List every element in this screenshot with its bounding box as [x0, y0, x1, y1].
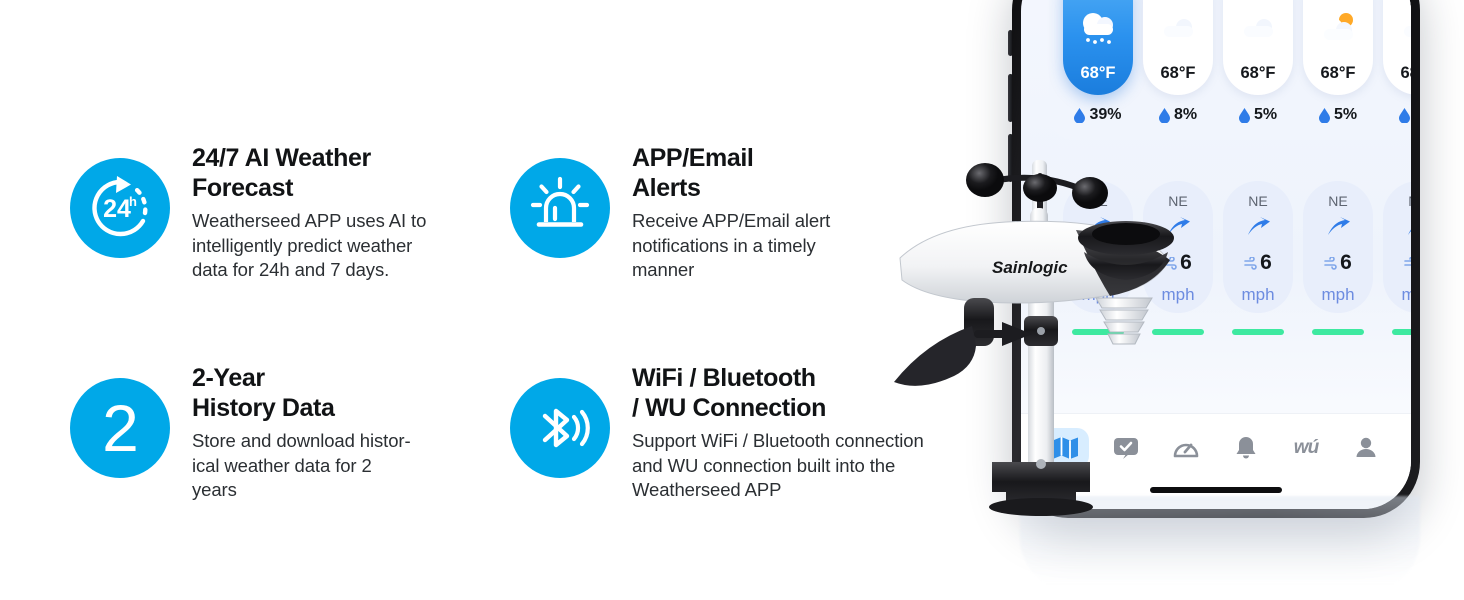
radiation-shield [1096, 298, 1152, 344]
hourly-column[interactable]: 7 68°F 5% [1303, 0, 1373, 124]
siren-alert-icon [510, 158, 610, 258]
wind-direction-arrow-icon [1405, 216, 1411, 238]
feature-description: Receive APP/Email alert notifications in… [632, 209, 830, 283]
hourly-temperature: 68°F [1320, 64, 1355, 95]
cloud-rain-icon [1075, 0, 1121, 64]
hourly-column[interactable]: Now 68°F 39% [1063, 0, 1133, 124]
wind-direction-arrow-icon [1325, 216, 1351, 243]
wind-card[interactable]: NE 6 mph [1303, 181, 1373, 313]
feature-alerts: APP/Email Alerts Receive APP/Email alert… [510, 140, 830, 283]
hourly-card[interactable]: 5 68°F [1143, 0, 1213, 95]
wind-column[interactable]: NE 6 mph [1383, 181, 1411, 313]
number-two-icon: 2 [70, 378, 170, 478]
weather-station-device: Sainlogic [880, 130, 1190, 530]
feature-history: 2 2-Year History Data Store and download… [70, 360, 411, 503]
clock-24h-icon: 24 h [70, 158, 170, 258]
nav-item-bell[interactable] [1223, 428, 1269, 468]
hourly-column[interactable]: 5 68°F 8% [1143, 0, 1213, 124]
wind-card[interactable]: NE 6 mph [1383, 181, 1411, 313]
hourly-precipitation: 5% [1223, 106, 1293, 124]
feature-forecast: 24 h 24/7 AI Weather Forecast Weathersee… [70, 140, 426, 283]
wind-direction-arrow-icon [1325, 216, 1351, 238]
hourly-temperature: 68°F [1240, 64, 1275, 95]
feature-title: 24/7 AI Weather Forecast [192, 144, 426, 203]
feature-title: APP/Email Alerts [632, 144, 830, 203]
svg-text:h: h [129, 194, 137, 209]
hourly-card[interactable]: 6 68°F [1223, 0, 1293, 95]
hourly-precipitation: 39% [1063, 106, 1133, 124]
water-drop-icon [1074, 108, 1085, 123]
wind-indicator-bar [1383, 329, 1411, 335]
wind-indicator-bar [1223, 329, 1293, 335]
water-drop-icon [1399, 108, 1410, 123]
promo-banner: 24 h 24/7 AI Weather Forecast Weathersee… [0, 0, 1464, 600]
feature-connection: WiFi / Bluetooth / WU Connection Support… [510, 360, 924, 503]
station-brand-label: Sainlogic [992, 258, 1068, 277]
cloud-icon [1395, 8, 1411, 48]
cloud-icon [1155, 8, 1201, 48]
hourly-column[interactable]: 8 68°F 5% [1383, 0, 1411, 124]
wind-speed-unit: mph [1241, 285, 1274, 305]
hourly-precipitation: 5% [1383, 106, 1411, 124]
breeze-icon [1404, 257, 1411, 270]
water-drop-icon [1159, 108, 1170, 123]
hourly-card[interactable]: Now 68°F [1063, 0, 1133, 95]
wind-speed-value: 6 [1404, 251, 1411, 275]
wind-column[interactable]: NE 6 mph [1223, 181, 1293, 313]
sun-cloud-icon [1315, 8, 1361, 48]
cloud-icon [1235, 8, 1281, 48]
svg-text:24: 24 [103, 195, 131, 223]
precipitation-value: 8% [1174, 106, 1197, 124]
wu-logo-icon: wú [1294, 437, 1318, 459]
breeze-icon [1324, 257, 1337, 270]
precipitation-value: 39% [1089, 106, 1121, 124]
cloud-icon [1395, 0, 1411, 64]
wind-speed-value: 6 [1324, 251, 1352, 275]
feature-title: 2-Year History Data [192, 364, 411, 423]
badge-number: 2 [102, 395, 138, 461]
nav-item-person[interactable] [1343, 428, 1389, 468]
wind-indicator-bar [1303, 329, 1373, 335]
wind-direction-label: NE [1328, 193, 1347, 209]
feature-description: Store and download histor- ical weather … [192, 429, 411, 503]
nav-item-wu-logo[interactable]: wú [1283, 428, 1329, 468]
cloud-rain-icon [1075, 8, 1121, 48]
hourly-temperature: 68°F [1400, 64, 1411, 95]
feature-description: Weatherseed APP uses AI to intelligently… [192, 209, 426, 283]
cloud-icon [1235, 0, 1281, 64]
hourly-card[interactable]: 8 68°F [1383, 0, 1411, 95]
hourly-column[interactable]: 6 68°F 5% [1223, 0, 1293, 124]
hourly-card[interactable]: 7 68°F [1303, 0, 1373, 95]
wind-column[interactable]: NE 6 mph [1303, 181, 1373, 313]
hourly-precipitation: 8% [1143, 106, 1213, 124]
wind-speed-unit: mph [1321, 285, 1354, 305]
hourly-temperature: 68°F [1160, 64, 1195, 95]
breeze-icon [1244, 257, 1257, 270]
wind-direction-arrow-icon [1245, 216, 1271, 243]
water-drop-icon [1319, 108, 1330, 123]
water-drop-icon [1239, 108, 1250, 123]
hourly-temperature: 68°F [1080, 64, 1115, 95]
wind-direction-label: NE [1248, 193, 1267, 209]
wind-direction-arrow-icon [1245, 216, 1271, 238]
bluetooth-signal-icon [510, 378, 610, 478]
wind-speed-value: 6 [1244, 251, 1272, 275]
precipitation-value: 5% [1254, 106, 1277, 124]
feature-grid: 24 h 24/7 AI Weather Forecast Weathersee… [0, 0, 1000, 600]
wind-direction-label: NE [1408, 193, 1411, 209]
wind-speed-unit: mph [1401, 285, 1411, 305]
wind-direction-arrow-icon [1405, 216, 1411, 243]
wind-card[interactable]: NE 6 mph [1223, 181, 1293, 313]
sun-cloud-icon [1315, 0, 1361, 64]
hourly-forecast-panel: Now 68°F 39% 5 68°F 8% 6 [1049, 0, 1411, 140]
precipitation-value: 5% [1334, 106, 1357, 124]
cloud-icon [1155, 0, 1201, 64]
hourly-precipitation: 5% [1303, 106, 1373, 124]
